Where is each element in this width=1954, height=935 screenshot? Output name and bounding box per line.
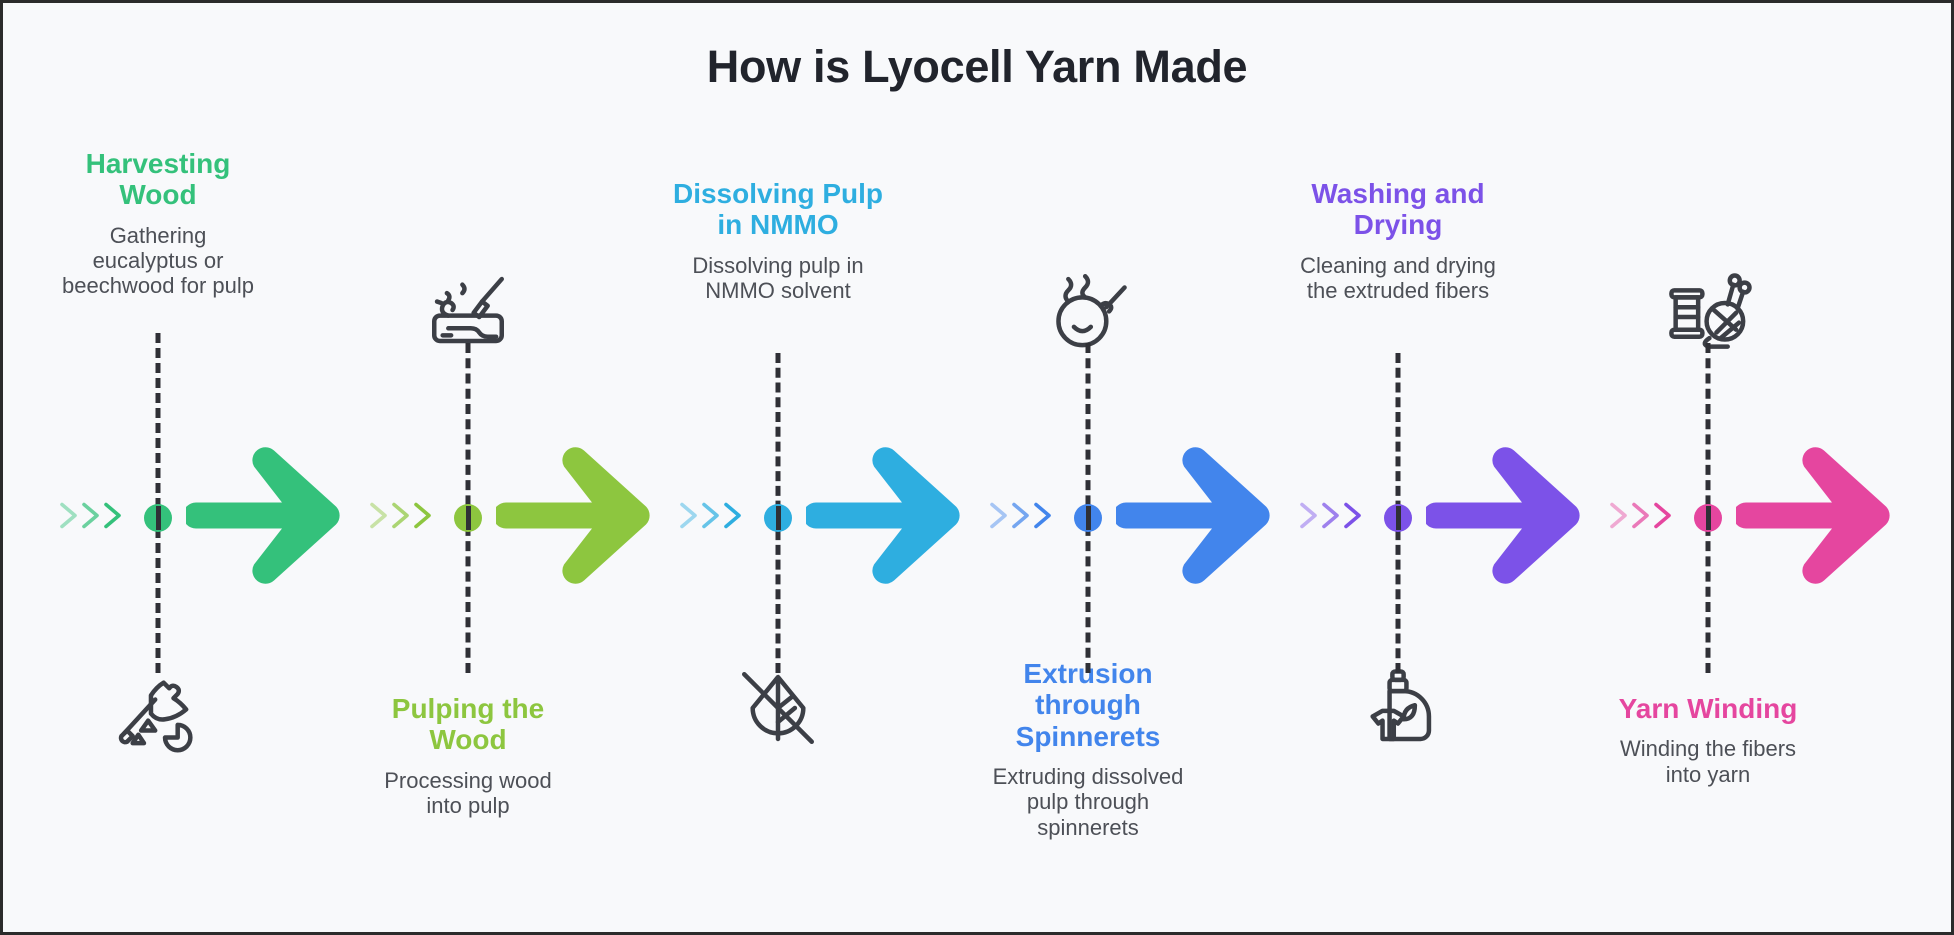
step-node-dot[interactable]	[1694, 504, 1722, 532]
step-description: Processing woodinto pulp	[318, 768, 618, 819]
step-description: Extruding dissolvedpulp throughspinneret…	[938, 764, 1238, 840]
flow-chevrons	[676, 493, 766, 544]
step-title: HarvestingWood	[8, 148, 308, 211]
step-title: Pulping theWood	[318, 693, 618, 756]
step-title: Dissolving Pulpin NMMO	[628, 178, 928, 241]
step-4[interactable]: ExtrusionthroughSpinneretsExtruding diss…	[933, 3, 1243, 935]
step-title: Yarn Winding	[1558, 693, 1858, 724]
step-connector-line	[156, 333, 161, 673]
step-5[interactable]: Washing andDryingCleaning and dryingthe …	[1243, 3, 1553, 935]
step-node-dot[interactable]	[454, 504, 482, 532]
step-text-block: Yarn WindingWinding the fibersinto yarn	[1558, 693, 1858, 787]
flow-chevrons	[56, 493, 146, 544]
step-description: Winding the fibersinto yarn	[1558, 736, 1858, 787]
step-text-block: Dissolving Pulpin NMMODissolving pulp in…	[628, 178, 928, 303]
detergent-bottle-shirt-icon	[1353, 663, 1443, 753]
step-node-dot[interactable]	[764, 504, 792, 532]
step-arrow	[186, 441, 346, 596]
flow-chevrons	[1606, 493, 1696, 544]
step-1[interactable]: HarvestingWoodGatheringeucalyptus orbeec…	[3, 3, 313, 935]
step-node-dot[interactable]	[1074, 504, 1102, 532]
step-node-dot[interactable]	[144, 504, 172, 532]
step-description: Gatheringeucalyptus orbeechwood for pulp	[8, 223, 308, 299]
step-description: Dissolving pulp inNMMO solvent	[628, 253, 928, 304]
step-2[interactable]: Pulping theWoodProcessing woodinto pulp	[313, 3, 623, 935]
spinneret-vessel-icon	[1043, 265, 1133, 355]
step-text-block: ExtrusionthroughSpinneretsExtruding diss…	[938, 658, 1238, 840]
wood-plank-chisel-icon	[423, 265, 513, 355]
spool-yarn-needles-icon	[1663, 265, 1753, 355]
infographic-canvas: How is Lyocell Yarn Made HarvestingWoodG…	[0, 0, 1954, 935]
flow-chevrons	[986, 493, 1076, 544]
step-arrow	[1736, 441, 1896, 596]
step-arrow	[1116, 441, 1276, 596]
step-description: Cleaning and dryingthe extruded fibers	[1248, 253, 1548, 304]
leaf-droplet-slash-icon	[733, 663, 823, 753]
step-title: Washing andDrying	[1248, 178, 1548, 241]
step-6[interactable]: Yarn WindingWinding the fibersinto yarn	[1553, 3, 1863, 935]
step-3[interactable]: Dissolving Pulpin NMMODissolving pulp in…	[623, 3, 933, 935]
flow-chevrons	[1296, 493, 1386, 544]
axe-wood-chips-icon	[113, 663, 203, 753]
step-arrow	[1426, 441, 1586, 596]
flow-chevrons	[366, 493, 456, 544]
step-arrow	[496, 441, 656, 596]
step-arrow	[806, 441, 966, 596]
step-text-block: HarvestingWoodGatheringeucalyptus orbeec…	[8, 148, 308, 299]
step-node-dot[interactable]	[1384, 504, 1412, 532]
step-text-block: Washing andDryingCleaning and dryingthe …	[1248, 178, 1548, 303]
step-text-block: Pulping theWoodProcessing woodinto pulp	[318, 693, 618, 818]
